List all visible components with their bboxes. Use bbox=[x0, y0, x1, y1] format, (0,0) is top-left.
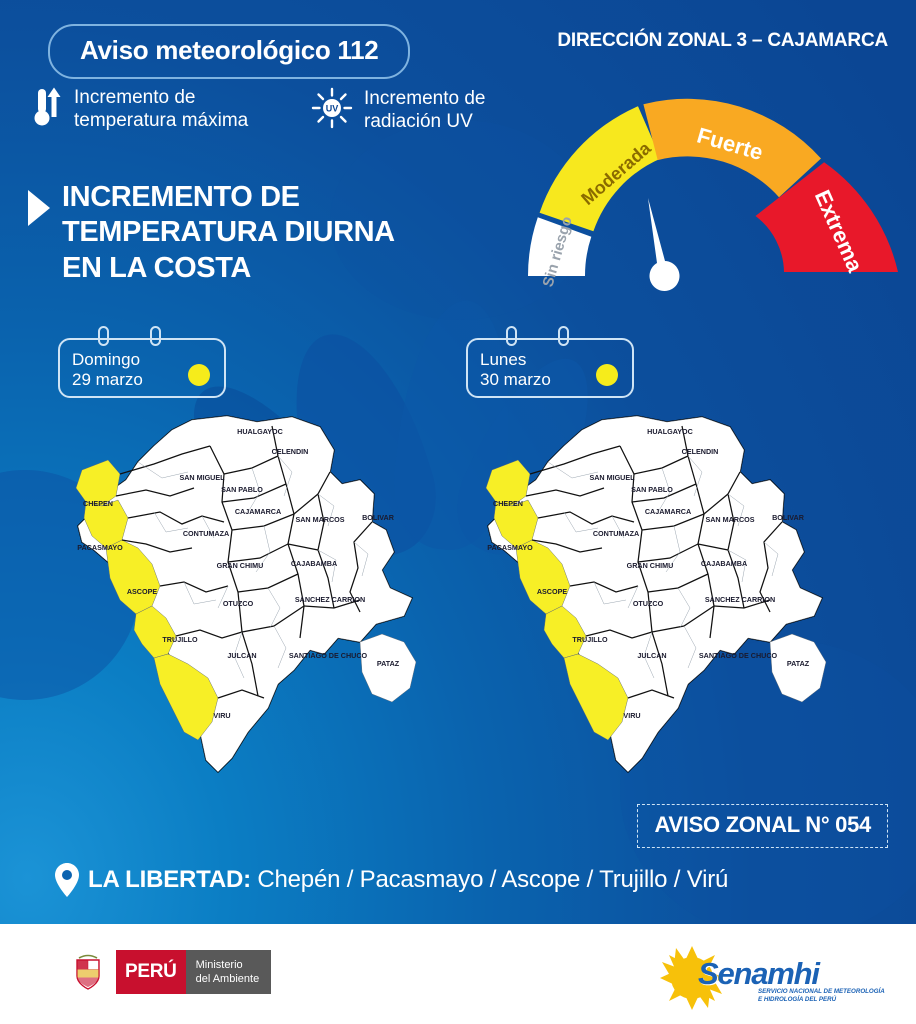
svg-text:JULCAN: JULCAN bbox=[227, 651, 256, 660]
svg-text:SAN MARCOS: SAN MARCOS bbox=[295, 515, 344, 524]
region-name: LA LIBERTAD: bbox=[88, 866, 251, 893]
svg-text:BOLIVAR: BOLIVAR bbox=[772, 513, 805, 522]
svg-text:CONTUMAZA: CONTUMAZA bbox=[183, 529, 229, 538]
svg-text:HUALGAYOC: HUALGAYOC bbox=[237, 427, 283, 436]
province-list: Chepén / Pacasmayo / Ascope / Trujillo /… bbox=[251, 866, 728, 893]
day-tag-ring bbox=[558, 326, 569, 346]
peru-coat-of-arms-icon bbox=[60, 950, 116, 994]
map-lunes: HUALGAYOC CELENDIN SAN MIGUEL SAN PABLO … bbox=[452, 402, 832, 792]
day-tag-label: Lunes30 marzo bbox=[480, 350, 551, 390]
gauge-needle bbox=[648, 198, 679, 291]
peru-ministry-logo: PERÚ Ministerio del Ambiente bbox=[60, 950, 271, 994]
zonal-direction-label: DIRECCIÓN ZONAL 3 – CAJAMARCA bbox=[557, 30, 888, 52]
day-tag-alert-dot bbox=[188, 364, 210, 386]
svg-text:SANCHEZ CARRION: SANCHEZ CARRION bbox=[705, 595, 775, 604]
svg-text:JULCAN: JULCAN bbox=[637, 651, 666, 660]
svg-text:SAN MIGUEL: SAN MIGUEL bbox=[179, 473, 225, 482]
affected-locations: LA LIBERTAD: Chepén / Pacasmayo / Ascope… bbox=[88, 866, 728, 894]
legend-temperature-text: Incremento detemperatura máxima bbox=[74, 87, 248, 132]
thermometer-up-icon bbox=[34, 86, 64, 133]
poster-canvas: Aviso meteorológico 112 DIRECCIÓN ZONAL … bbox=[0, 0, 916, 924]
svg-text:SANCHEZ CARRION: SANCHEZ CARRION bbox=[295, 595, 365, 604]
svg-text:VIRU: VIRU bbox=[213, 711, 230, 720]
svg-text:OTUZCO: OTUZCO bbox=[633, 599, 664, 608]
svg-text:PATAZ: PATAZ bbox=[787, 659, 810, 668]
day-tag-ring bbox=[98, 326, 109, 346]
svg-text:CELENDIN: CELENDIN bbox=[682, 447, 719, 456]
gauge-segment-moderada bbox=[540, 106, 661, 231]
senamhi-tagline: SERVICIO NACIONAL DE METEOROLOGÍA E HIDR… bbox=[758, 988, 885, 1005]
senamhi-tagline-1: SERVICIO NACIONAL DE METEOROLOGÍA bbox=[758, 988, 885, 995]
svg-text:PACASMAYO: PACASMAYO bbox=[77, 543, 123, 552]
svg-text:PATAZ: PATAZ bbox=[377, 659, 400, 668]
legend-uv-text: Incremento deradiación UV bbox=[364, 88, 485, 133]
svg-text:SAN PABLO: SAN PABLO bbox=[221, 485, 263, 494]
svg-text:OTUZCO: OTUZCO bbox=[223, 599, 254, 608]
day-tag-ring bbox=[506, 326, 517, 346]
svg-text:SAN MIGUEL: SAN MIGUEL bbox=[589, 473, 635, 482]
senamhi-wordmark: Senamhi bbox=[698, 956, 819, 992]
svg-text:ASCOPE: ASCOPE bbox=[537, 587, 568, 596]
svg-text:GRAN CHIMU: GRAN CHIMU bbox=[627, 561, 674, 570]
province-pataz-shape bbox=[360, 634, 416, 702]
peru-label: PERÚ bbox=[116, 950, 186, 994]
legend-item-uv: UV Incremento deradiación UV bbox=[310, 86, 485, 135]
uv-risk-gauge: Sin riesgo Moderada Fuerte Extrema bbox=[506, 86, 910, 296]
aviso-zonal-badge: AVISO ZONAL N° 054 bbox=[637, 804, 888, 848]
page-title: INCREMENTO DE TEMPERATURA DIURNA EN LA C… bbox=[62, 180, 395, 286]
ministry-label: Ministerio del Ambiente bbox=[186, 950, 272, 994]
svg-text:VIRU: VIRU bbox=[623, 711, 640, 720]
ministry-line-2: del Ambiente bbox=[196, 972, 260, 986]
senamhi-logo: Senamhi SERVICIO NACIONAL DE METEOROLOGÍ… bbox=[640, 942, 850, 1014]
svg-text:TRUJILLO: TRUJILLO bbox=[162, 635, 198, 644]
senamhi-tagline-2: E HIDROLOGÍA DEL PERÚ bbox=[758, 996, 836, 1003]
province-pataz-shape bbox=[770, 634, 826, 702]
day-tag-domingo: Domingo29 marzo bbox=[58, 326, 226, 398]
svg-text:GRAN CHIMU: GRAN CHIMU bbox=[217, 561, 264, 570]
svg-text:TRUJILLO: TRUJILLO bbox=[572, 635, 608, 644]
day-tag-lunes: Lunes30 marzo bbox=[466, 326, 634, 398]
svg-text:CAJABAMBA: CAJABAMBA bbox=[701, 559, 747, 568]
svg-text:ASCOPE: ASCOPE bbox=[127, 587, 158, 596]
svg-text:SAN PABLO: SAN PABLO bbox=[631, 485, 673, 494]
day-tag-alert-dot bbox=[596, 364, 618, 386]
svg-text:CHEPEN: CHEPEN bbox=[493, 499, 523, 508]
svg-text:CONTUMAZA: CONTUMAZA bbox=[593, 529, 639, 538]
ministry-line-1: Ministerio bbox=[196, 958, 260, 972]
svg-text:PACASMAYO: PACASMAYO bbox=[487, 543, 533, 552]
day-tag-label: Domingo29 marzo bbox=[72, 350, 143, 390]
map-domingo: HUALGAYOC CELENDIN SAN MIGUEL SAN PABLO … bbox=[42, 402, 422, 792]
svg-text:UV: UV bbox=[326, 104, 339, 114]
svg-text:CAJABAMBA: CAJABAMBA bbox=[291, 559, 337, 568]
legend-item-temperature: Incremento detemperatura máxima bbox=[34, 86, 248, 133]
svg-text:CAJAMARCA: CAJAMARCA bbox=[645, 507, 691, 516]
svg-text:HUALGAYOC: HUALGAYOC bbox=[647, 427, 693, 436]
svg-text:SANTIAGO DE CHUCO: SANTIAGO DE CHUCO bbox=[699, 651, 778, 660]
day-tag-ring bbox=[150, 326, 161, 346]
uv-sun-icon: UV bbox=[310, 86, 354, 135]
alert-title-pill: Aviso meteorológico 112 bbox=[48, 24, 410, 79]
svg-text:SANTIAGO DE CHUCO: SANTIAGO DE CHUCO bbox=[289, 651, 368, 660]
svg-text:CELENDIN: CELENDIN bbox=[272, 447, 309, 456]
location-pin-icon bbox=[54, 862, 80, 903]
footer-bar: PERÚ Ministerio del Ambiente bbox=[0, 924, 916, 1024]
headline-arrow-icon bbox=[28, 190, 50, 226]
svg-text:SAN MARCOS: SAN MARCOS bbox=[705, 515, 754, 524]
svg-text:CHEPEN: CHEPEN bbox=[83, 499, 113, 508]
svg-text:CAJAMARCA: CAJAMARCA bbox=[235, 507, 281, 516]
svg-text:BOLIVAR: BOLIVAR bbox=[362, 513, 395, 522]
